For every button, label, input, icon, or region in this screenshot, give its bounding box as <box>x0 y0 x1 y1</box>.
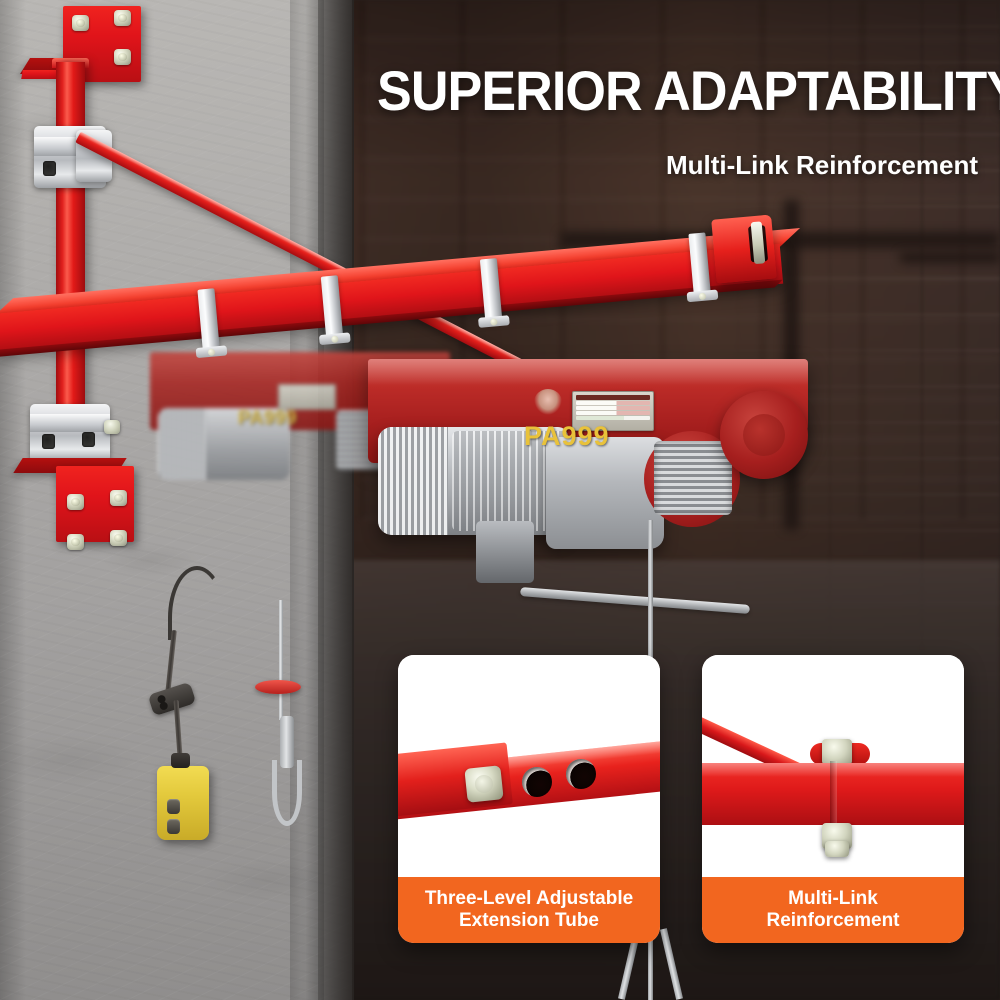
pendant-up-button[interactable] <box>167 799 180 814</box>
clamp-eye-lower-right <box>82 432 95 447</box>
product-marketing-image: PA999 <box>0 0 1000 1000</box>
pendant-controller[interactable] <box>157 766 209 840</box>
spec-plate-row <box>576 406 650 410</box>
background-cooling-fins <box>158 408 206 480</box>
clamp-hex-nut <box>104 420 120 434</box>
bolt-top-right <box>114 10 131 26</box>
caption-line-2: Reinforcement <box>766 910 899 931</box>
brand-logo-icon <box>534 389 562 415</box>
callout-photo-extension-tube <box>398 655 660 877</box>
lower-washer <box>825 841 849 857</box>
page-subtitle: Multi-Link Reinforcement <box>666 150 978 181</box>
bolt-bl-3 <box>67 534 84 550</box>
caption-line-1: Multi-Link <box>788 888 878 909</box>
wire-rope-left <box>279 600 283 720</box>
bottom-mounting-plate <box>56 466 134 542</box>
page-title: SUPERIOR ADAPTABILITY <box>377 62 963 120</box>
lifting-hook <box>272 760 302 826</box>
boom-joint-seam <box>830 761 837 827</box>
spec-plate-header <box>576 395 650 400</box>
pendant-down-button[interactable] <box>167 819 180 834</box>
hook-leg-right <box>660 928 683 1000</box>
clamp-band-lower <box>30 414 110 431</box>
locking-hex-bolt <box>464 765 503 803</box>
background-spec-plate <box>278 384 336 410</box>
hoist-cover-highlight <box>368 359 808 385</box>
bolt-bl-4 <box>110 530 127 546</box>
spec-plate-row <box>576 411 650 415</box>
callout-card-multi-link: Multi-Link Reinforcement <box>702 655 964 943</box>
callout-caption-extension-tube: Three-Level Adjustable Extension Tube <box>398 877 660 943</box>
spec-plate-row <box>576 401 650 405</box>
bolt-bl-2 <box>110 490 127 506</box>
callout-card-extension-tube: Three-Level Adjustable Extension Tube <box>398 655 660 943</box>
cable-stopper <box>255 680 301 694</box>
model-label: PA999 <box>524 421 610 452</box>
spec-plate-row <box>576 416 650 420</box>
callout-caption-multi-link: Multi-Link Reinforcement <box>702 877 964 943</box>
adjustment-hole-1 <box>522 767 552 797</box>
drum-end-hub <box>720 391 808 479</box>
clamp-eye-left <box>43 161 56 176</box>
bolt-top-left <box>72 15 89 31</box>
background-model-label: PA999 <box>238 408 297 430</box>
electric-hoist: PA999 <box>368 345 808 585</box>
bolt-bottom-right <box>114 49 131 65</box>
clamp-eye-lower-left <box>42 434 55 449</box>
adjustment-hole-2 <box>566 759 596 789</box>
ceiling-beam-right <box>900 252 1000 263</box>
bolt-bl-1 <box>67 494 84 510</box>
caption-line-1: Three-Level Adjustable <box>425 888 633 909</box>
callout-photo-multi-link <box>702 655 964 877</box>
scaffold-clamp-lower <box>30 404 110 462</box>
junction-box <box>476 521 534 583</box>
boom-end-cap <box>711 214 776 283</box>
cable-drum <box>654 441 732 515</box>
caption-line-2: Extension Tube <box>459 910 599 931</box>
pendant-strain-relief <box>171 753 190 768</box>
cooling-fins <box>378 427 448 535</box>
upper-lock-nut <box>822 739 852 765</box>
